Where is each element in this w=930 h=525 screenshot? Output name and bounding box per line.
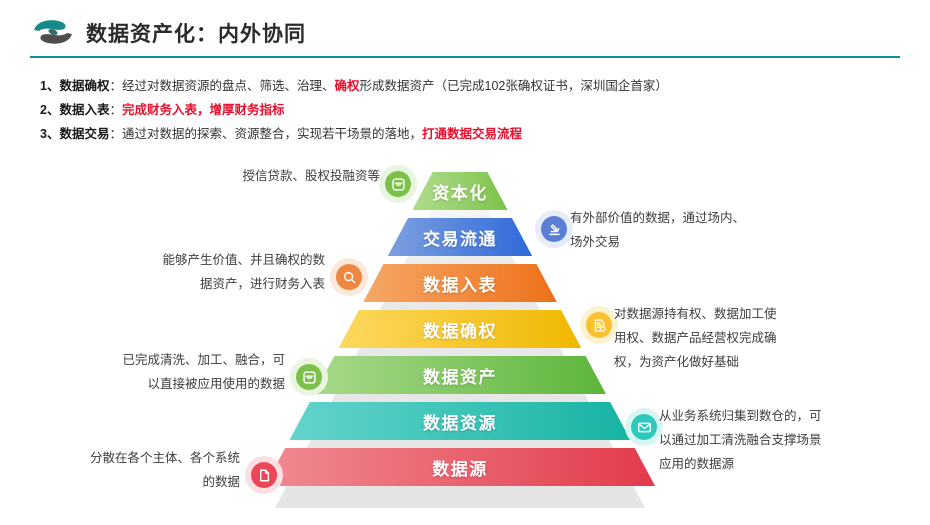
bullet-row: 1、数据确权：经过对数据资源的盘点、筛选、治理、确权形成数据资产（已完成102张… <box>40 76 900 97</box>
bullet-index: 3、 <box>40 127 59 141</box>
bullet-highlight-text: 打通数据交易流程 <box>422 127 522 141</box>
resource-note: 从业务系统归集到数仓的，可 以通过加工清洗融合支撑场景 应用的数据源 <box>659 404 884 476</box>
pyramid-layer-label: 数据资源 <box>423 409 497 434</box>
inbox-icon <box>296 364 322 390</box>
bullet-index: 2、 <box>40 103 59 117</box>
source-note: 分散在各个主体、各个系统 的数据 <box>50 446 240 494</box>
pyramid-layer[interactable]: 交易流通 <box>388 218 532 256</box>
capitalization-note: 授信贷款、股权投融资等 <box>210 164 380 188</box>
bullet-highlight-text: 确权 <box>335 79 360 93</box>
asset-note: 已完成清洗、加工、融合，可 以直接被应用使用的数据 <box>95 348 285 396</box>
company-swoosh-logo <box>31 18 75 46</box>
bullet-keyword: 数据交易 <box>59 127 109 141</box>
bullet-text: 经过对数据资源的盘点、筛选、治理、 <box>122 79 335 93</box>
header-divider <box>30 56 900 58</box>
pyramid-layer-label: 资本化 <box>432 179 488 204</box>
search-icon <box>336 264 362 290</box>
pyramid-layer-label: 交易流通 <box>423 225 497 250</box>
bullet-row: 2、数据入表：完成财务入表，增厚财务指标 <box>40 100 900 121</box>
pyramid-layer-label: 数据入表 <box>423 271 497 296</box>
pyramid-layer[interactable]: 数据确权 <box>339 310 582 348</box>
pyramid-diagram: 资本化交易流通数据入表数据确权数据资产数据资源数据源 授信贷款、股权投融资等有外… <box>0 150 930 525</box>
bullet-colon: ： <box>109 127 122 141</box>
bullet-highlight-text: 完成财务入表，增厚财务指标 <box>122 103 285 117</box>
bullet-text: 形成数据资产（已完成102张确权证书，深圳国企首家） <box>360 79 668 93</box>
pyramid-layer[interactable]: 数据资源 <box>290 402 631 440</box>
envelope-icon <box>631 414 657 440</box>
bullet-keyword: 数据入表 <box>59 103 109 117</box>
bullet-index: 1、 <box>40 79 59 93</box>
bullet-row: 3、数据交易：通过对数据的探索、资源整合，实现若干场景的落地，打通数据交易流程 <box>40 124 900 145</box>
pyramid-layer[interactable]: 数据入表 <box>363 264 557 302</box>
bullet-colon: ： <box>109 79 122 93</box>
pyramid-layer[interactable]: 资本化 <box>412 172 507 210</box>
bullet-text: 通过对数据的探索、资源整合，实现若干场景的落地， <box>122 127 422 141</box>
bullet-colon: ： <box>109 103 122 117</box>
pyramid-layer-label: 数据确权 <box>423 317 497 342</box>
page-header: 数据资产化：内外协同 <box>0 0 930 62</box>
summary-bullet-list: 1、数据确权：经过对数据资源的盘点、筛选、治理、确权形成数据资产（已完成102张… <box>40 76 900 148</box>
pyramid-layer[interactable]: 数据源 <box>265 448 655 486</box>
file-icon <box>251 462 277 488</box>
circulation-note: 有外部价值的数据，通过场内、 场外交易 <box>570 206 790 254</box>
microscope-icon <box>541 216 567 242</box>
statement-note: 能够产生价值、并且确权的数 据资产，进行财务入表 <box>140 248 325 296</box>
inbox-icon <box>385 171 411 197</box>
pyramid-layer[interactable]: 数据资产 <box>314 356 606 394</box>
bullet-keyword: 数据确权 <box>59 79 109 93</box>
confirmation-note: 对数据源持有权、数据加工使 用权、数据产品经营权完成确 权，为资产化做好基础 <box>614 302 834 374</box>
pyramid-layer-label: 数据资产 <box>423 363 497 388</box>
pyramid-layer-label: 数据源 <box>432 455 488 480</box>
document-check-icon <box>586 312 612 338</box>
page-title: 数据资产化：内外协同 <box>86 18 306 48</box>
